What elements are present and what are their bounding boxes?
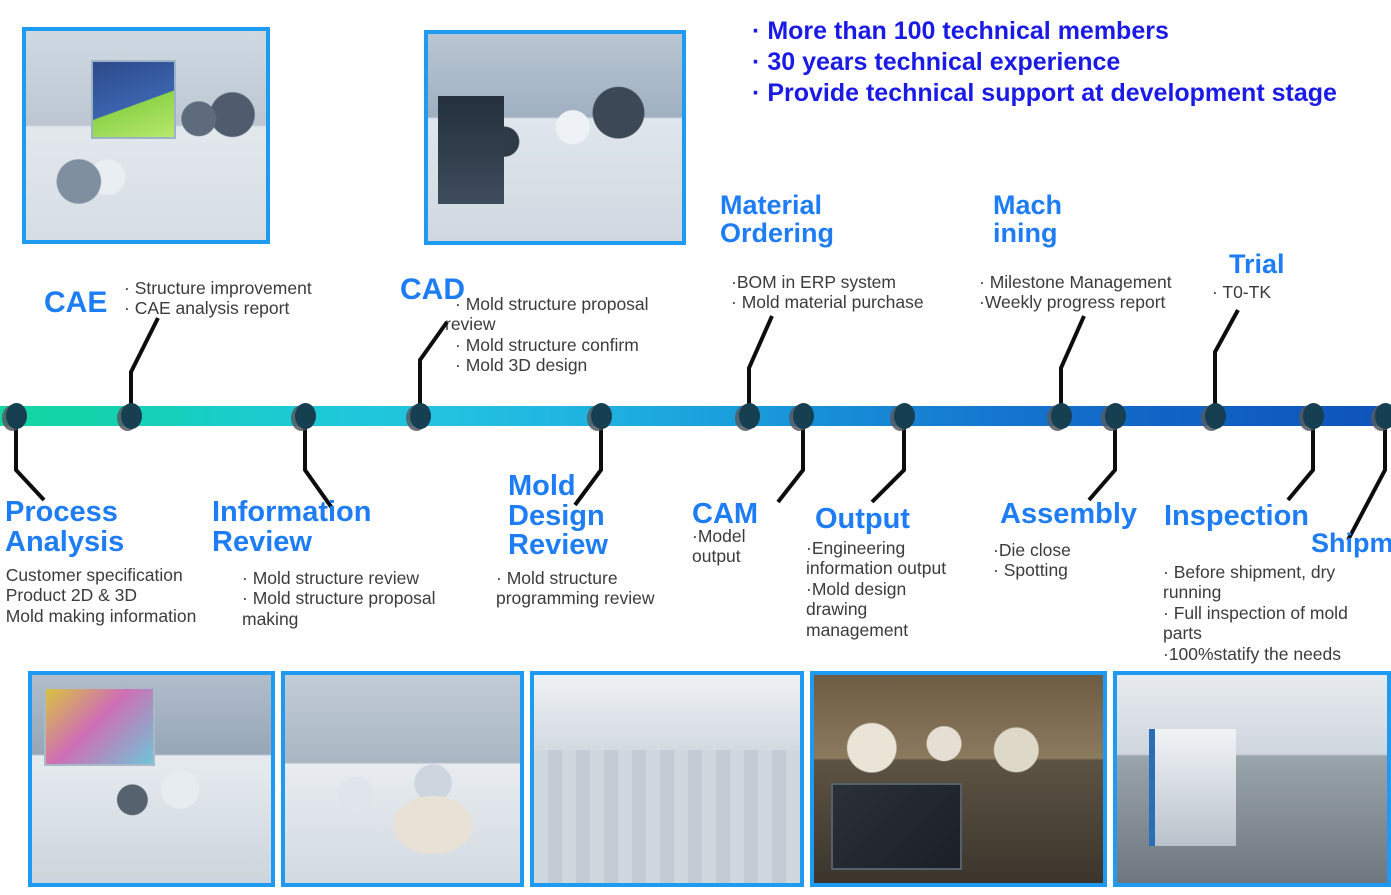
stage-body-output: ·Engineering information output ·Mold de… bbox=[806, 538, 986, 640]
photo-cmm-inspection bbox=[1113, 671, 1391, 887]
timeline-node-cae[interactable] bbox=[121, 403, 142, 429]
timeline-node-information-review[interactable] bbox=[295, 403, 316, 429]
stage-item: · Mold structure bbox=[496, 568, 711, 588]
timeline-node-mold-design-review[interactable] bbox=[591, 403, 612, 429]
stage-item: ·100%statify the needs bbox=[1163, 644, 1388, 664]
timeline-node-trial[interactable] bbox=[1205, 403, 1226, 429]
photo-meeting-room-image bbox=[285, 675, 520, 883]
stage-body-assembly: ·Die close · Spotting bbox=[993, 540, 1163, 581]
photo-design-discussion-image bbox=[32, 675, 271, 883]
stage-item: drawing bbox=[806, 599, 986, 619]
stage-item: programming review bbox=[496, 588, 711, 608]
stage-item: ·Die close bbox=[993, 540, 1163, 560]
stage-item: · Mold making information bbox=[0, 606, 230, 626]
stage-title-process-analysis: Process Analysis bbox=[5, 498, 124, 557]
stage-item: ·Engineering bbox=[806, 538, 986, 558]
stage-item: · Mold structure review bbox=[242, 568, 482, 588]
photo-engineering-hall bbox=[530, 671, 804, 887]
stage-title-output: Output bbox=[815, 505, 910, 535]
stage-item: · Before shipment, dry bbox=[1163, 562, 1388, 582]
stage-item: ·Mold design bbox=[806, 579, 986, 599]
timeline-node-process-analysis[interactable] bbox=[6, 403, 27, 429]
stage-title-mold-design-review: Mold Design Review bbox=[508, 472, 608, 561]
process-timeline-bar bbox=[0, 406, 1391, 426]
stage-item: output bbox=[692, 546, 787, 566]
stage-item: parts bbox=[1163, 623, 1388, 643]
stage-item: · Full inspection of mold bbox=[1163, 603, 1388, 623]
stage-body-inspection: · Before shipment, dry running · Full in… bbox=[1163, 562, 1388, 664]
timeline-node-cam[interactable] bbox=[793, 403, 814, 429]
timeline-node-output[interactable] bbox=[894, 403, 915, 429]
timeline-node-inspection[interactable] bbox=[1303, 403, 1324, 429]
photo-shopfloor-review-image bbox=[814, 675, 1103, 883]
stage-item: management bbox=[806, 620, 986, 640]
timeline-node-material-ordering[interactable] bbox=[739, 403, 760, 429]
stage-item: · Customer specification bbox=[0, 565, 230, 585]
stage-item: running bbox=[1163, 582, 1388, 602]
stage-title-shipment: Shipme bbox=[1311, 530, 1391, 558]
photo-cmm-inspection-image bbox=[1117, 675, 1387, 883]
stage-body-mold-design-review: · Mold structure programming review bbox=[496, 568, 711, 609]
timeline-node-cad[interactable] bbox=[410, 403, 431, 429]
photo-shopfloor-review bbox=[810, 671, 1107, 887]
stage-body-cam: ·Model output bbox=[692, 526, 787, 567]
stage-title-information-review: Information Review bbox=[212, 498, 372, 557]
timeline-node-machining[interactable] bbox=[1051, 403, 1072, 429]
infographic-canvas: ·More than 100 technical members ·30 yea… bbox=[0, 0, 1391, 895]
timeline-node-shipment[interactable] bbox=[1375, 403, 1391, 429]
timeline-node-assembly[interactable] bbox=[1105, 403, 1126, 429]
stage-item: information output bbox=[806, 558, 986, 578]
stage-item: · Mold structure proposal bbox=[242, 588, 482, 608]
photo-engineering-hall-image bbox=[534, 675, 800, 883]
stage-item: making bbox=[242, 609, 482, 629]
stage-body-information-review: · Mold structure review · Mold structure… bbox=[242, 568, 482, 629]
stage-body-process-analysis: · Customer specification · Product 2D & … bbox=[0, 565, 230, 626]
stage-item: · Spotting bbox=[993, 560, 1163, 580]
stage-title-assembly: Assembly bbox=[1000, 500, 1137, 530]
photo-design-discussion bbox=[28, 671, 275, 887]
stage-item: ·Model bbox=[692, 526, 787, 546]
photo-meeting-room bbox=[281, 671, 524, 887]
stage-title-inspection: Inspection bbox=[1164, 502, 1309, 532]
stage-item: · Product 2D & 3D bbox=[0, 585, 230, 605]
